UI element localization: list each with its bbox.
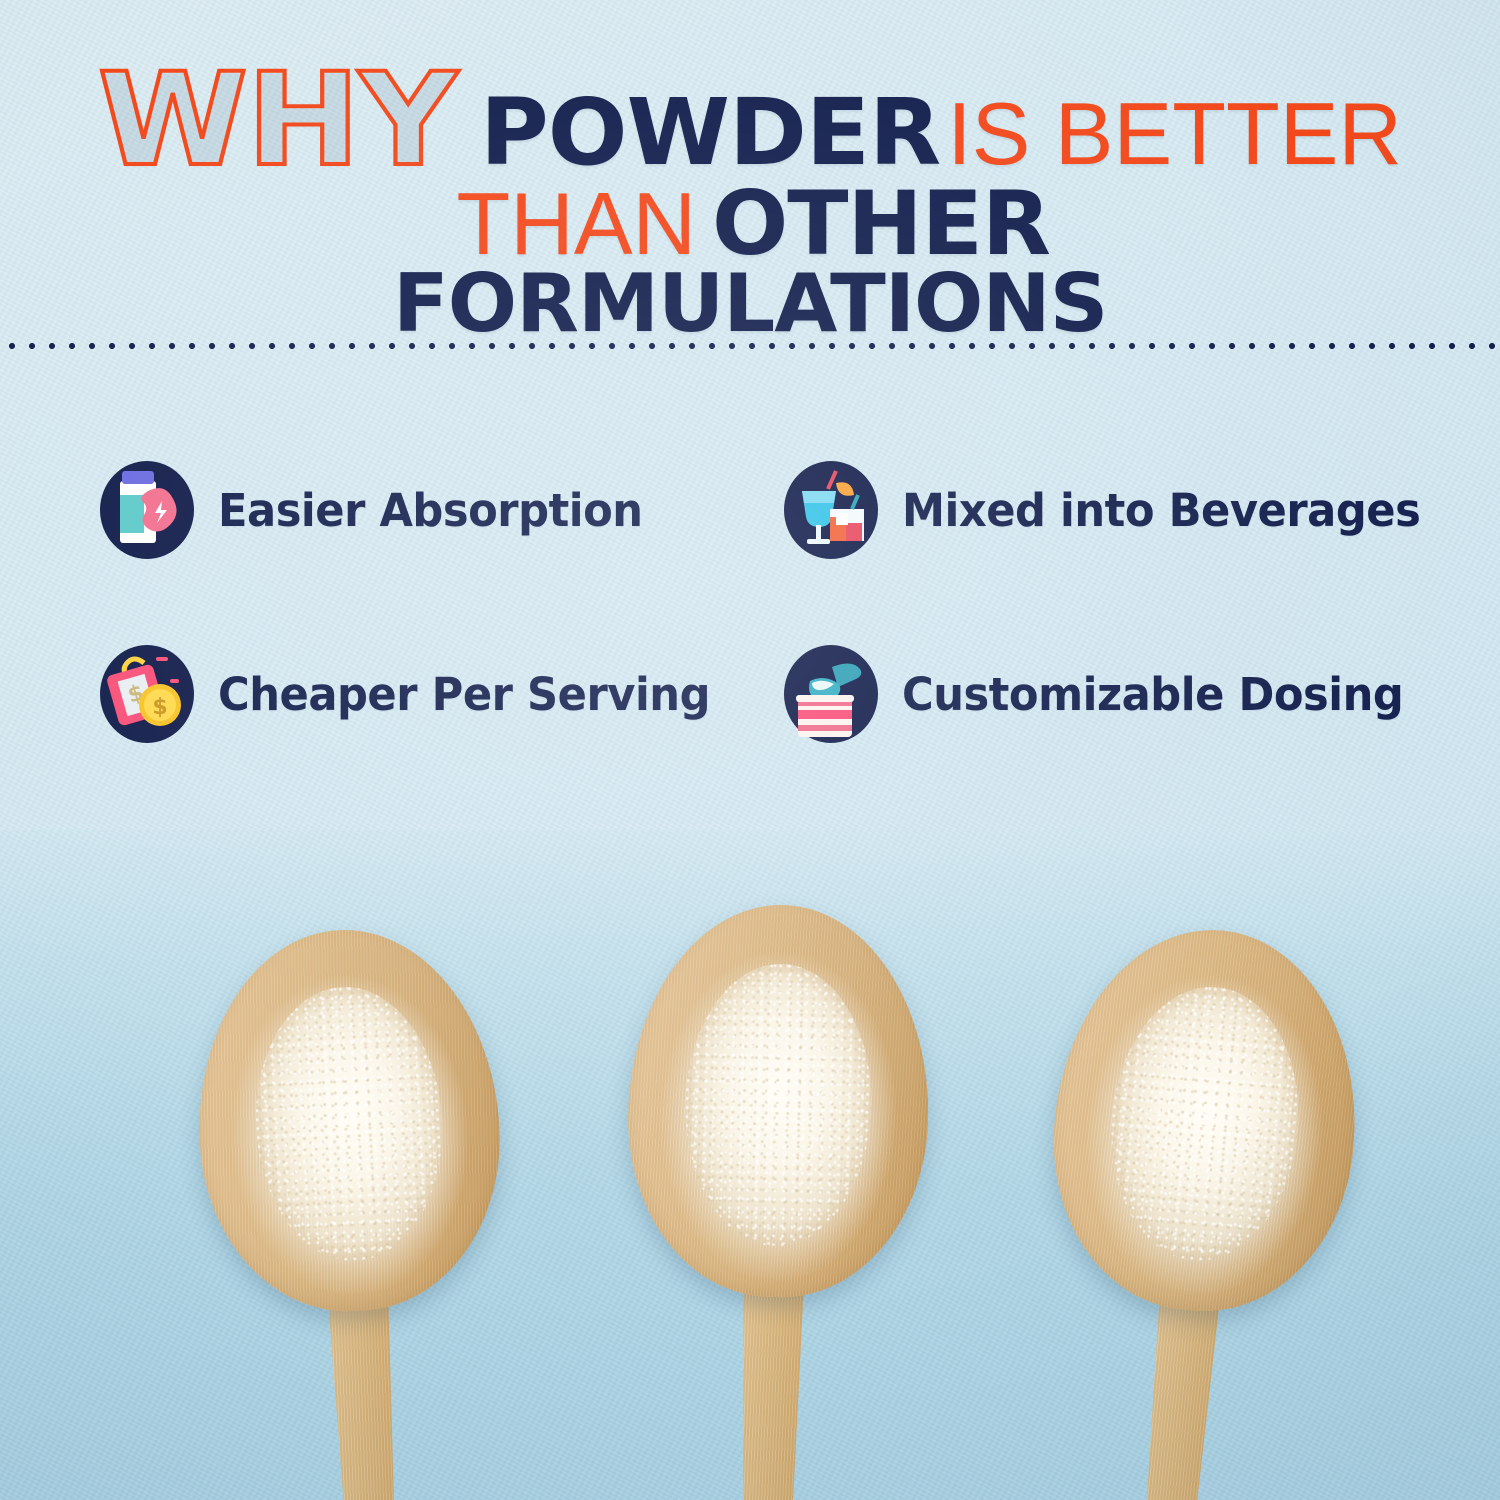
- wooden-spoon-center: [615, 901, 933, 1500]
- feature-item-customizable-dosing: Customizable Dosing: [780, 639, 1424, 749]
- spoon-handle: [312, 1281, 428, 1500]
- headline-word-other: OTHER: [712, 184, 1050, 265]
- headline-word-powder: POWDER: [480, 91, 940, 176]
- svg-text:$: $: [152, 695, 167, 720]
- wooden-spoon-left: [189, 922, 524, 1500]
- scoop-tub-icon: [780, 639, 880, 749]
- cocktail-drinks-icon: [780, 455, 880, 565]
- infographic-canvas: WHYPOWDERIS BETTER THANOTHER FORMULATION…: [0, 0, 1500, 1500]
- spoon-handle: [1102, 1279, 1236, 1500]
- price-tag-coin-icon: $ $: [96, 639, 196, 749]
- feature-label: Mixed into Beverages: [902, 484, 1420, 537]
- headline-word-than: THAN: [457, 184, 697, 265]
- feature-item-easier-absorption: Easier Absorption: [96, 455, 660, 565]
- spoon-bowl: [623, 901, 933, 1301]
- wooden-spoon-right: [1013, 917, 1371, 1500]
- feature-label: Cheaper Per Serving: [218, 668, 710, 721]
- spoon-bowl: [1039, 917, 1371, 1322]
- headline-word-why: WHY: [98, 62, 480, 180]
- feature-list: Easier Absorption: [0, 455, 1500, 775]
- spoon-bowl: [189, 922, 509, 1318]
- headline-word-formulations: FORMULATIONS: [393, 267, 1107, 341]
- headline-line-1: WHYPOWDERIS BETTER: [0, 62, 1500, 180]
- feature-item-cheaper-per-serving: $ $ Cheaper Per Serving: [96, 639, 731, 749]
- dotted-divider: [0, 340, 1500, 352]
- feature-item-mixed-into-beverages: Mixed into Beverages: [780, 455, 1442, 565]
- spoon-handle: [716, 1268, 820, 1500]
- supplement-bottle-stomach-icon: [96, 455, 196, 565]
- headline: WHYPOWDERIS BETTER THANOTHER FORMULATION…: [0, 62, 1500, 340]
- feature-label: Customizable Dosing: [902, 668, 1403, 721]
- headline-line-3: FORMULATIONS: [0, 267, 1500, 341]
- headline-word-is-better: IS BETTER: [947, 94, 1402, 175]
- divider-dots: [0, 340, 1500, 352]
- headline-line-2: THANOTHER: [0, 184, 1500, 265]
- feature-label: Easier Absorption: [218, 484, 643, 537]
